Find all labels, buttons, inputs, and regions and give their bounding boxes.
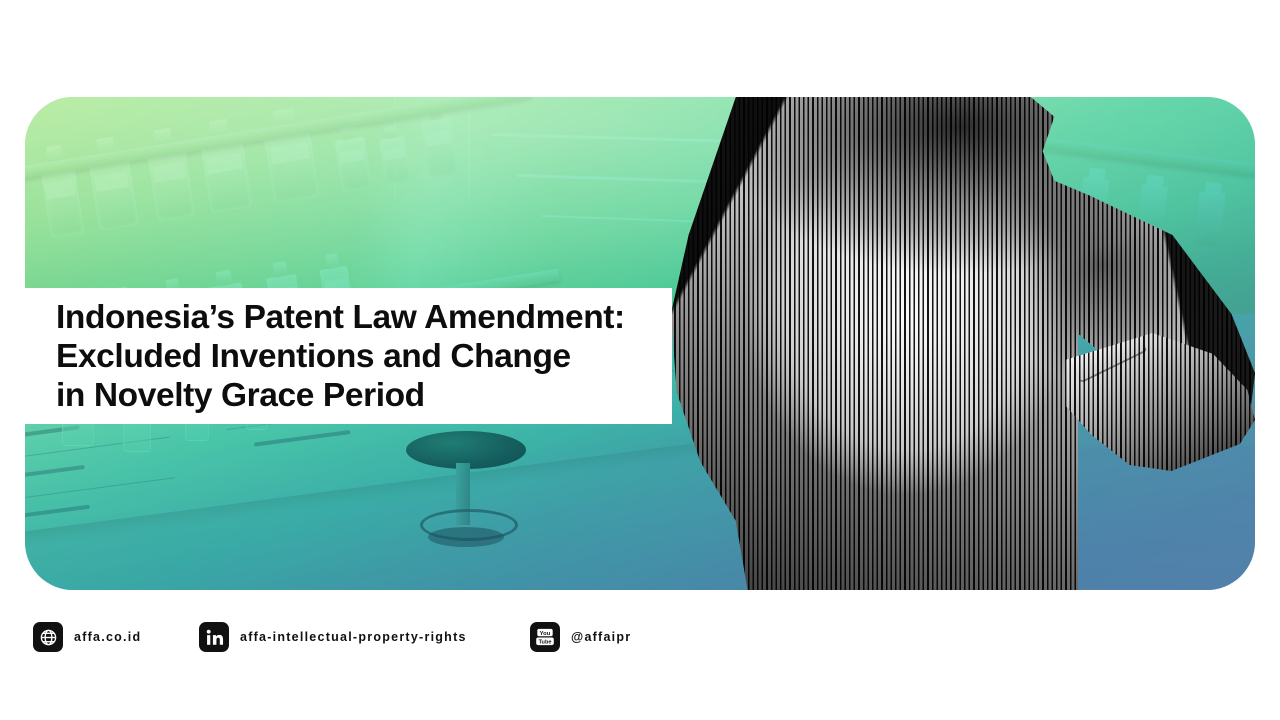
- social-link-website[interactable]: affa.co.id: [33, 622, 141, 652]
- social-link-youtube[interactable]: You Tube @affaipr: [530, 622, 631, 652]
- social-handle-label: @affaipr: [571, 630, 631, 644]
- svg-text:You: You: [540, 631, 551, 637]
- halftone-figure: [665, 97, 1255, 590]
- social-link-linkedin[interactable]: affa-intellectual-property-rights: [199, 622, 467, 652]
- social-handle-label: affa.co.id: [74, 630, 141, 644]
- youtube-icon: You Tube: [530, 622, 560, 652]
- svg-text:Tube: Tube: [539, 639, 552, 645]
- footer-bar: affa.co.id affa-intellectual-property-ri…: [0, 606, 1280, 674]
- poster-canvas: Indonesia’s Patent Law Amendment: Exclud…: [0, 0, 1280, 720]
- globe-icon: [33, 622, 63, 652]
- social-handle-label: affa-intellectual-property-rights: [240, 630, 467, 644]
- headline-panel: Indonesia’s Patent Law Amendment: Exclud…: [25, 288, 672, 424]
- hero-banner: Indonesia’s Patent Law Amendment: Exclud…: [25, 97, 1255, 590]
- page-title: Indonesia’s Patent Law Amendment: Exclud…: [25, 298, 625, 415]
- linkedin-icon: [199, 622, 229, 652]
